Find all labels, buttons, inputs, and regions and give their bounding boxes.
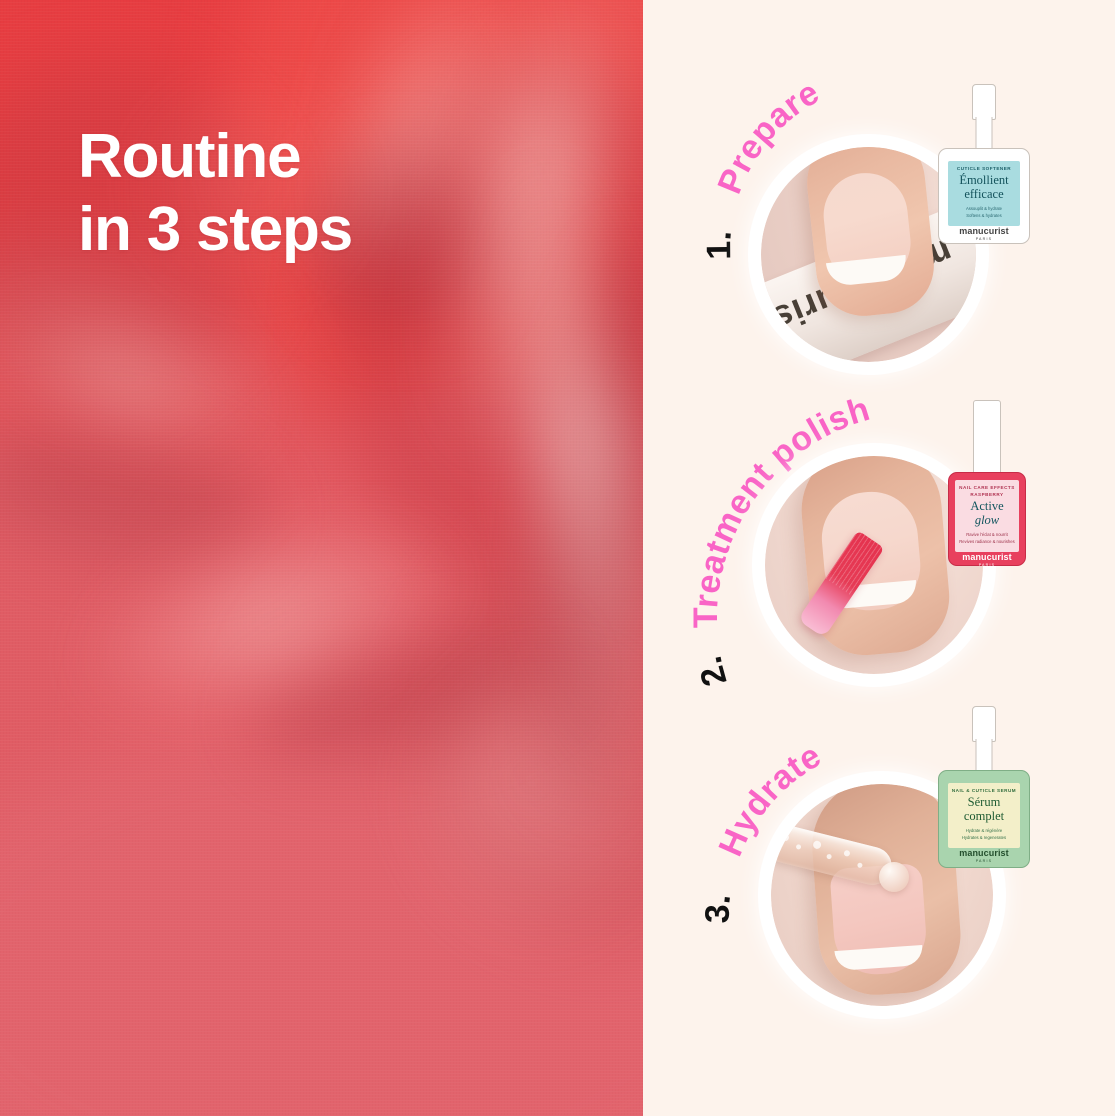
bottle-brand: manucurist PARIS [962, 552, 1012, 567]
brand-city: PARIS [959, 237, 1009, 241]
step-1: 1. Prepare manucurist [643, 0, 1115, 390]
label-title-line-1: Émollient [959, 173, 1008, 187]
brand-name: manucurist [959, 226, 1009, 236]
bottle-body: NAIL & CUTICLE SERUM Sérum complet Hydra… [938, 770, 1030, 868]
steps-panel: 1. Prepare manucurist 2. [643, 0, 1115, 1116]
product-bottle-active-glow[interactable]: NAIL CARE EFFECTS RASPBERRY Active glow … [948, 400, 1026, 566]
label-subtitle: Assouplit & hydrate Softens & hydrates [966, 206, 1002, 219]
brand-city: PARIS [959, 859, 1009, 863]
step-1-number: 1. [700, 229, 739, 260]
label-sub-line-2: Revives radiance & nourishes [959, 539, 1014, 544]
label-title-line-2: glow [970, 513, 1003, 527]
step-2: 2. Treatment polish [643, 378, 1115, 708]
brand-name: manucurist [959, 848, 1009, 858]
label-sub-line-1: Hydrate & régénère [966, 828, 1003, 833]
bottle-label: NAIL & CUTICLE SERUM Sérum complet Hydra… [948, 783, 1020, 848]
polish-cap [973, 400, 1001, 480]
label-kicker: NAIL & CUTICLE SERUM [952, 788, 1016, 795]
label-title-line-2: complet [964, 809, 1004, 823]
label-kicker-line-2: RASPBERRY [970, 492, 1003, 497]
bottle-label: CUTICLE SOFTENER Émollient efficace Asso… [948, 161, 1020, 226]
label-kicker: CUTICLE SOFTENER [957, 166, 1011, 173]
dropper-cap [972, 706, 996, 742]
product-bottle-serum-complet[interactable]: NAIL & CUTICLE SERUM Sérum complet Hydra… [938, 706, 1030, 868]
label-subtitle: Hydrate & régénère Hydrates & regenerate… [962, 828, 1006, 841]
title-line-1: Routine [78, 120, 598, 193]
title-line-2: in 3 steps [78, 193, 598, 266]
label-title-line-1: Sérum [968, 795, 1001, 809]
label-title: Active glow [970, 499, 1003, 528]
svg-text:2.: 2. [691, 653, 735, 690]
svg-text:3.: 3. [698, 892, 738, 924]
hero-panel: Routine in 3 steps [0, 0, 643, 1116]
bottle-brand: manucurist PARIS [959, 226, 1009, 241]
label-sub-line-1: Ravive l'éclat & nourrit [966, 532, 1008, 537]
brand-name: manucurist [962, 552, 1012, 562]
label-sub-line-2: Softens & hydrates [966, 213, 1001, 218]
label-kicker: NAIL CARE EFFECTS RASPBERRY [959, 485, 1015, 499]
step-3: 3. Hydrate [643, 700, 1115, 1030]
label-title: Sérum complet [964, 795, 1004, 824]
svg-text:1.: 1. [700, 229, 739, 260]
promo-banner: Routine in 3 steps 1. Prepare manucurist [0, 0, 1115, 1116]
label-sub-line-2: Hydrates & regenerates [962, 835, 1006, 840]
dropper-cap [972, 84, 996, 120]
label-title-line-2: efficace [964, 187, 1003, 201]
label-title-line-1: Active [970, 499, 1003, 513]
bottle-label: NAIL CARE EFFECTS RASPBERRY Active glow … [955, 480, 1020, 552]
label-kicker-line-1: NAIL CARE EFFECTS [959, 485, 1015, 490]
label-sub-line-1: Assouplit & hydrate [966, 206, 1002, 211]
bottle-body: CUTICLE SOFTENER Émollient efficace Asso… [938, 148, 1030, 244]
step-2-number: 2. [691, 653, 735, 690]
label-subtitle: Ravive l'éclat & nourrit Revives radianc… [959, 532, 1014, 545]
product-bottle-emollient-efficace[interactable]: CUTICLE SOFTENER Émollient efficace Asso… [938, 84, 1030, 244]
bottle-body: NAIL CARE EFFECTS RASPBERRY Active glow … [948, 472, 1026, 566]
brand-city: PARIS [962, 563, 1012, 567]
serum-droplet [879, 862, 909, 892]
label-title: Émollient efficace [959, 173, 1008, 202]
step-3-number: 3. [698, 892, 738, 924]
page-title: Routine in 3 steps [78, 120, 598, 266]
bottle-brand: manucurist PARIS [959, 848, 1009, 863]
